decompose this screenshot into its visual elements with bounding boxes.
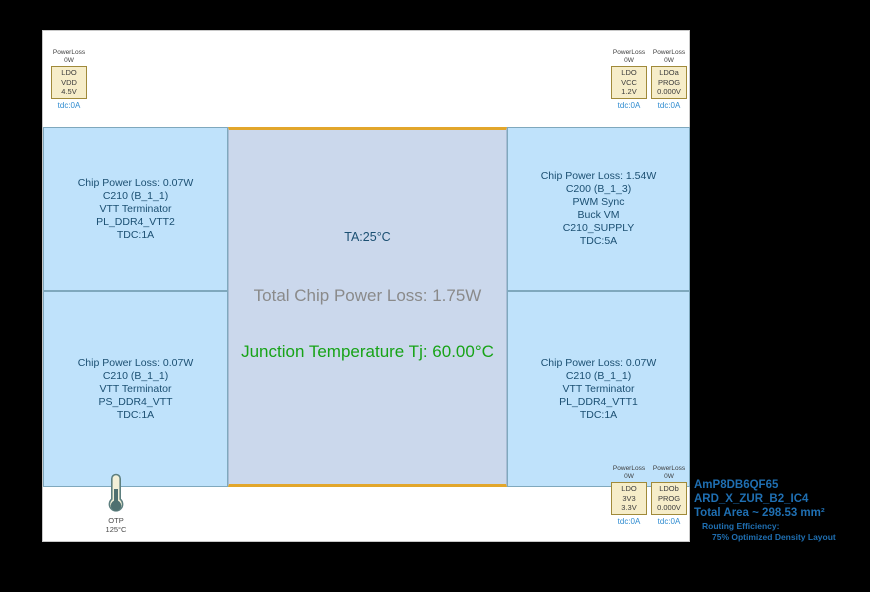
quadrant-block-id: C210 (B_1_1) (103, 190, 168, 203)
quadrant-tdc: TDC:5A (580, 235, 617, 248)
annotation-part-number: AmP8DB6QF65 (694, 478, 866, 492)
ldo-powerloss-caption: PowerLoss 0W (653, 49, 685, 65)
ldo-tdc-value: tdc:0A (58, 101, 81, 110)
quadrant-tdc: TDC:1A (580, 409, 617, 422)
quadrant-power-loss: Chip Power Loss: 1.54W (541, 170, 657, 183)
quadrant-bottom-left[interactable]: Chip Power Loss: 0.07W C210 (B_1_1) VTT … (43, 291, 228, 487)
ldo-box[interactable]: LDOa PROG 0.000V (651, 66, 687, 99)
ldo-box-line-3: 3.3V (621, 503, 636, 513)
ldo-box-line-3: 0.000V (657, 503, 681, 513)
powerloss-value: 0W (664, 473, 674, 480)
ldo-group-top-left: PowerLoss 0W LDO VDD 4.5V tdc:0A (51, 49, 87, 110)
quadrant-function: VTT Terminator (100, 203, 172, 216)
powerloss-value: 0W (64, 57, 74, 64)
ldo-powerloss-caption: PowerLoss 0W (613, 465, 645, 481)
quadrant-function: VTT Terminator (100, 383, 172, 396)
ldo-cell-progb[interactable]: PowerLoss 0W LDOb PROG 0.000V tdc:0A (651, 465, 687, 526)
ldo-powerloss-caption: PowerLoss 0W (653, 465, 685, 481)
ldo-box-line-3: 0.000V (657, 87, 681, 97)
ldo-cell-proga[interactable]: PowerLoss 0W LDOa PROG 0.000V tdc:0A (651, 49, 687, 110)
quadrant-rail: C210_SUPPLY (563, 222, 635, 235)
powerloss-label: PowerLoss (613, 49, 645, 56)
ldo-box-line-1: LDO (621, 484, 636, 494)
otp-thermometer-widget[interactable]: OTP 125°C (91, 473, 141, 534)
annotation-density-layout: 75% Optimized Density Layout (712, 532, 866, 543)
powerloss-value: 0W (624, 473, 634, 480)
ldo-box-line-3: 1.2V (621, 87, 636, 97)
powerloss-label: PowerLoss (653, 465, 685, 472)
ldo-box-line-2: 3V3 (622, 494, 635, 504)
ldo-box[interactable]: LDO 3V3 3.3V (611, 482, 647, 515)
quadrant-topology: Buck VM (577, 209, 619, 222)
thermal-layout-canvas: PowerLoss 0W LDO VDD 4.5V tdc:0A PowerLo… (0, 0, 870, 592)
ldo-box[interactable]: LDO VCC 1.2V (611, 66, 647, 99)
ldo-tdc-value: tdc:0A (618, 517, 641, 526)
ldo-box-line-1: LDOb (659, 484, 679, 494)
ldo-powerloss-caption: PowerLoss 0W (53, 49, 85, 65)
ldo-box-line-2: VCC (621, 78, 637, 88)
quadrant-power-loss: Chip Power Loss: 0.07W (78, 177, 194, 190)
ldo-box-line-2: PROG (658, 494, 680, 504)
ldo-cell-vdd[interactable]: PowerLoss 0W LDO VDD 4.5V tdc:0A (51, 49, 87, 110)
powerloss-value: 0W (664, 57, 674, 64)
ldo-group-bottom-right: PowerLoss 0W LDO 3V3 3.3V tdc:0A PowerLo… (611, 465, 687, 526)
quadrant-function: VTT Terminator (563, 383, 635, 396)
annotation-total-area: Total Area ~ 298.53 mm² (694, 506, 866, 521)
quadrant-rail: PL_DDR4_VTT1 (559, 396, 638, 409)
total-chip-power-loss-label: Total Chip Power Loss: 1.75W (254, 286, 482, 306)
otp-value-text: 125°C (106, 525, 127, 534)
quadrant-block-id: C200 (B_1_3) (566, 183, 631, 196)
quadrant-block-id: C210 (B_1_1) (103, 370, 168, 383)
ldo-group-top-right: PowerLoss 0W LDO VCC 1.2V tdc:0A PowerLo… (611, 49, 687, 110)
ldo-box-line-2: VDD (61, 78, 77, 88)
otp-caption: OTP 125°C (106, 516, 127, 534)
quadrant-rail: PS_DDR4_VTT (98, 396, 172, 409)
quadrant-tdc: TDC:1A (117, 229, 154, 242)
ldo-box-line-1: LDO (61, 68, 76, 78)
ldo-box-line-3: 4.5V (61, 87, 76, 97)
quadrant-top-left[interactable]: Chip Power Loss: 0.07W C210 (B_1_1) VTT … (43, 127, 228, 291)
ldo-box-line-1: LDO (621, 68, 636, 78)
design-annotation-block: AmP8DB6QF65 ARD_X_ZUR_B2_IC4 Total Area … (694, 478, 866, 543)
powerloss-value: 0W (624, 57, 634, 64)
quadrant-block-id: C210 (B_1_1) (566, 370, 631, 383)
ldo-box-line-2: PROG (658, 78, 680, 88)
die-frame: PowerLoss 0W LDO VDD 4.5V tdc:0A PowerLo… (42, 30, 690, 542)
powerloss-label: PowerLoss (53, 49, 85, 56)
quadrant-power-loss: Chip Power Loss: 0.07W (541, 357, 657, 370)
ldo-powerloss-caption: PowerLoss 0W (613, 49, 645, 65)
ldo-cell-3v3[interactable]: PowerLoss 0W LDO 3V3 3.3V tdc:0A (611, 465, 647, 526)
ldo-box[interactable]: LDO VDD 4.5V (51, 66, 87, 99)
center-summary-panel: TA:25°C Total Chip Power Loss: 1.75W Jun… (228, 127, 507, 487)
quadrant-tdc: TDC:1A (117, 409, 154, 422)
ldo-tdc-value: tdc:0A (658, 517, 681, 526)
powerloss-label: PowerLoss (613, 465, 645, 472)
junction-temperature-label: Junction Temperature Tj: 60.00°C (241, 342, 494, 362)
quadrant-top-right[interactable]: Chip Power Loss: 1.54W C200 (B_1_3) PWM … (507, 127, 690, 291)
ldo-box[interactable]: LDOb PROG 0.000V (651, 482, 687, 515)
ldo-tdc-value: tdc:0A (618, 101, 641, 110)
annotation-design-id: ARD_X_ZUR_B2_IC4 (694, 492, 866, 506)
quadrant-bottom-right[interactable]: Chip Power Loss: 0.07W C210 (B_1_1) VTT … (507, 291, 690, 487)
ldo-box-line-1: LDOa (659, 68, 679, 78)
quadrant-rail: PL_DDR4_VTT2 (96, 216, 175, 229)
quadrant-function: PWM Sync (573, 196, 625, 209)
otp-label-text: OTP (108, 516, 123, 525)
ldo-cell-vcc[interactable]: PowerLoss 0W LDO VCC 1.2V tdc:0A (611, 49, 647, 110)
powerloss-label: PowerLoss (653, 49, 685, 56)
quadrant-power-loss: Chip Power Loss: 0.07W (78, 357, 194, 370)
thermometer-icon (107, 473, 125, 515)
ldo-tdc-value: tdc:0A (658, 101, 681, 110)
ambient-temperature-label: TA:25°C (344, 230, 390, 244)
annotation-routing-efficiency-label: Routing Efficiency: (702, 521, 866, 532)
